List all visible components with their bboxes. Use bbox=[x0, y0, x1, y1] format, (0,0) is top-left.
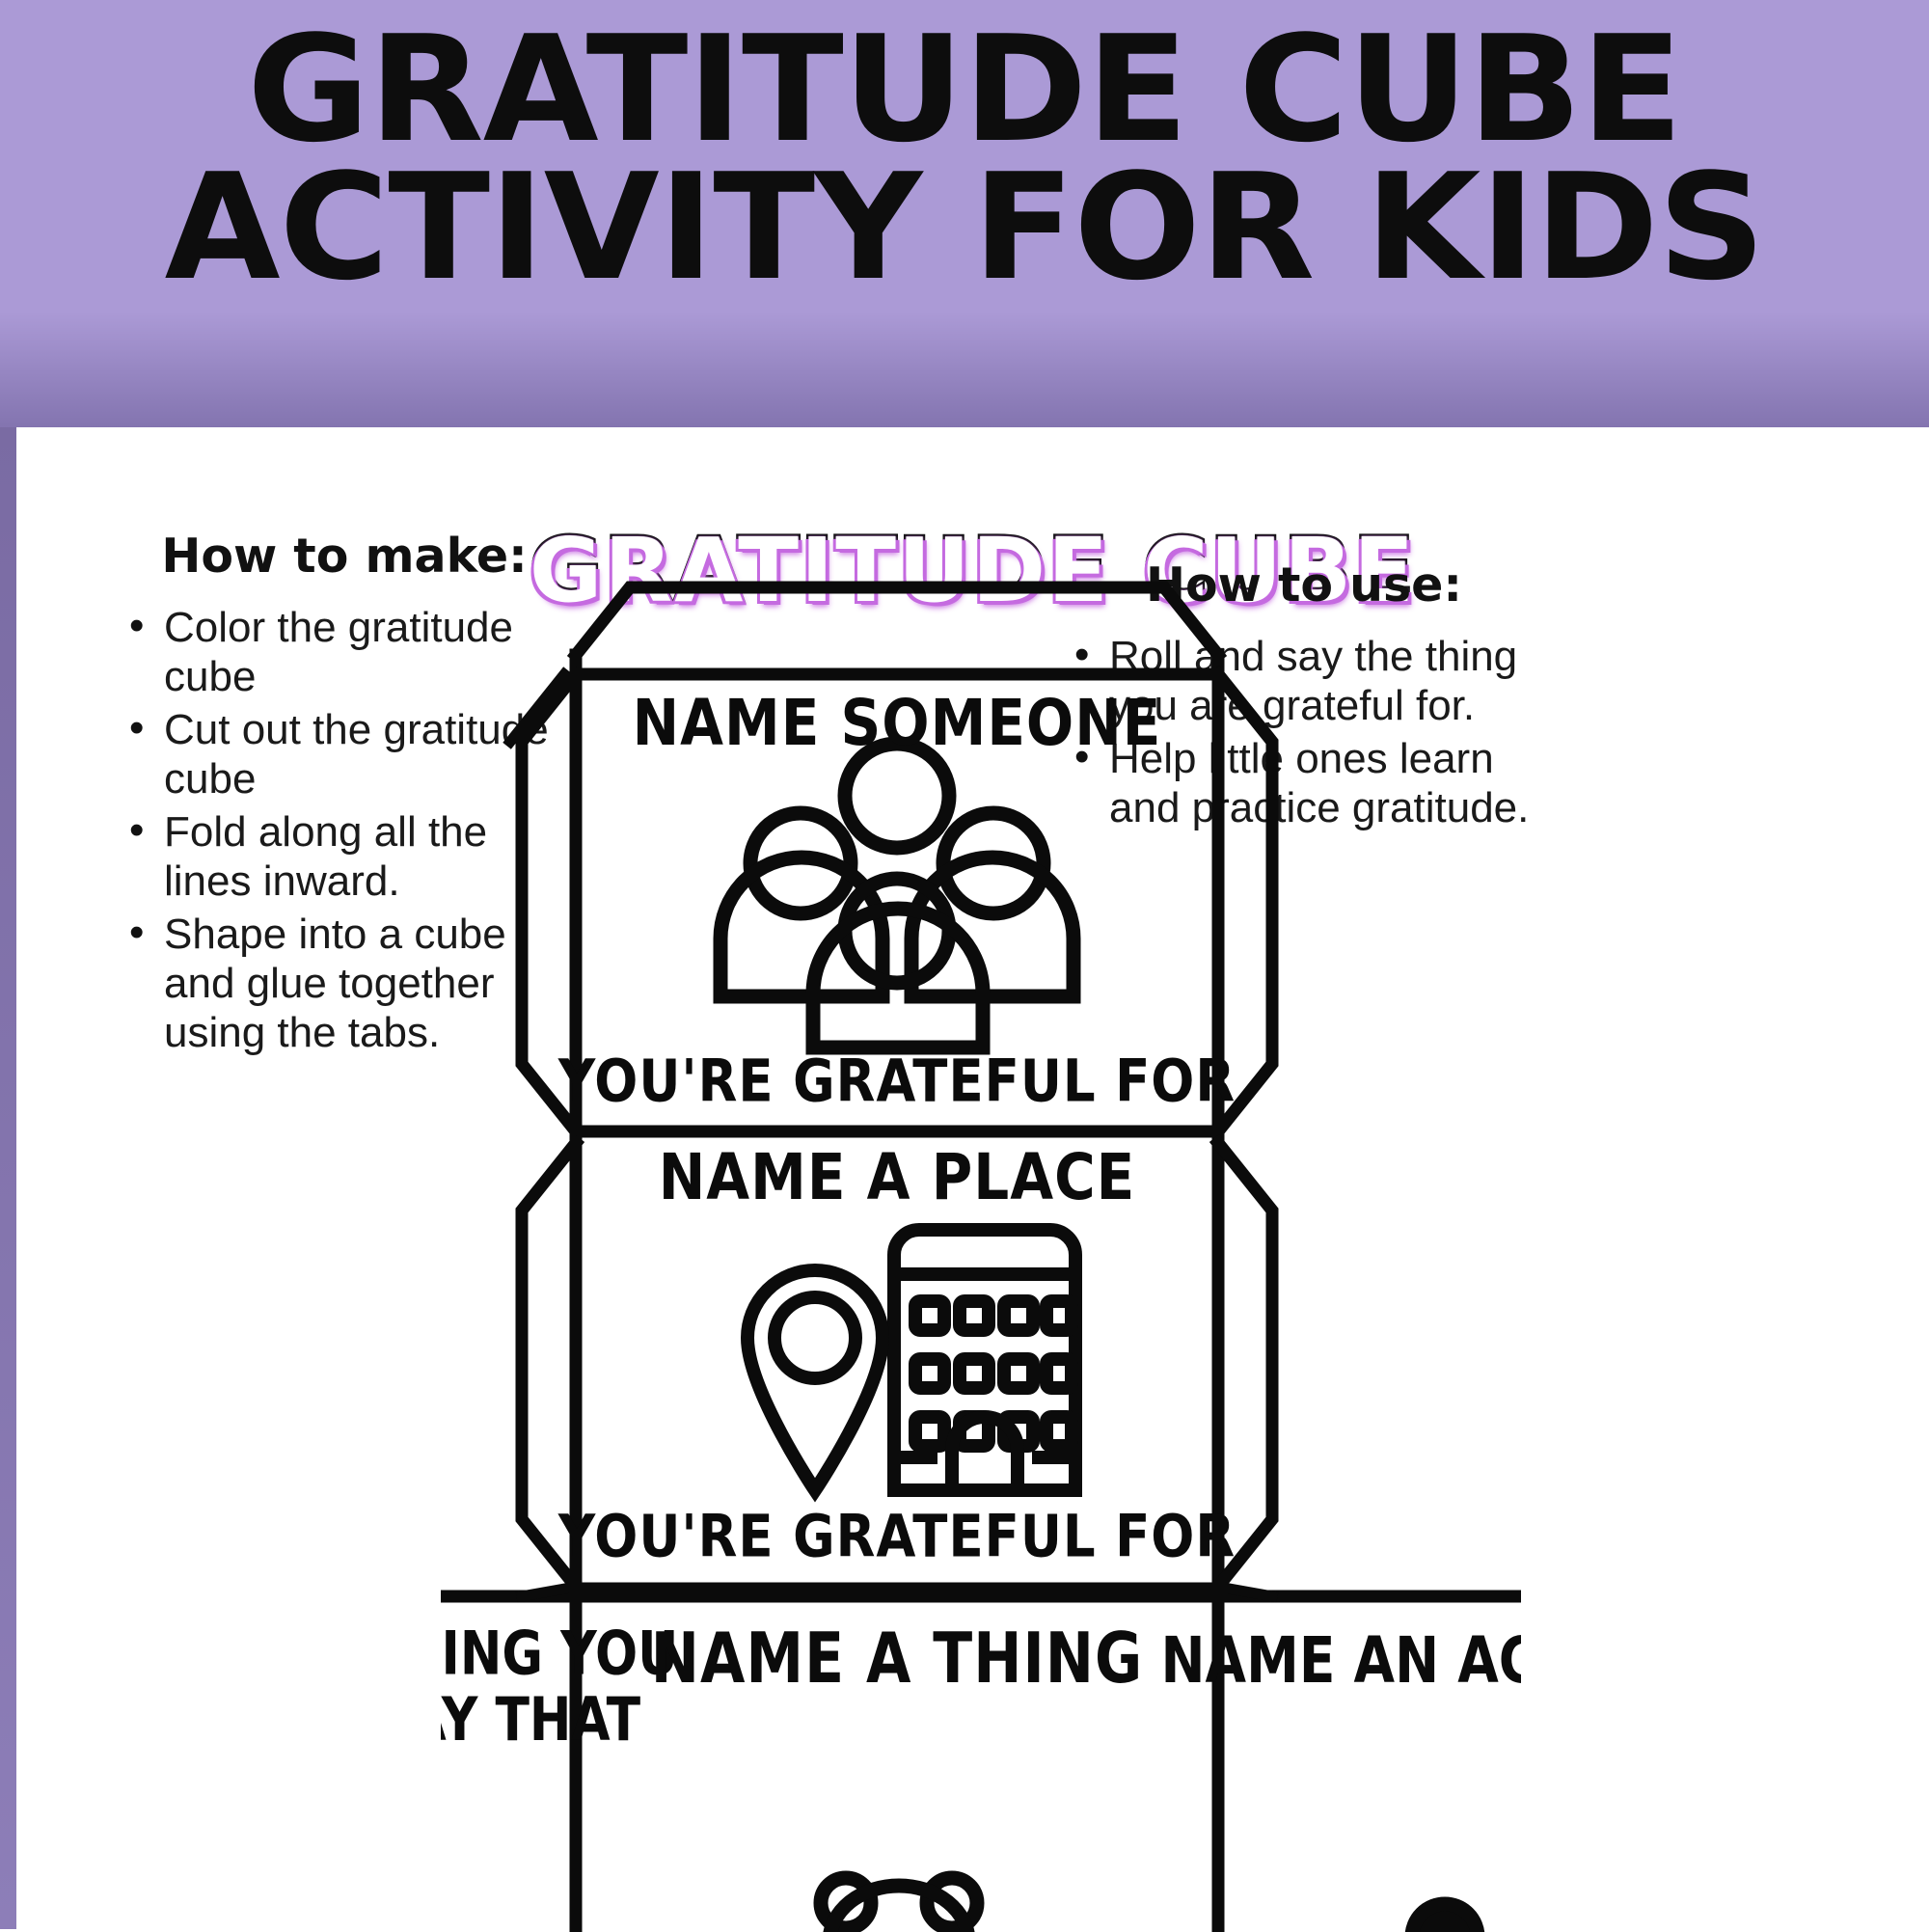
banner-shadow bbox=[0, 312, 1929, 427]
face-place-top-label: NAME A PLACE bbox=[659, 1139, 1136, 1214]
face-thing-text: NAME A THING bbox=[16, 427, 17, 428]
face-someone-top-label: NAME SOMEONE bbox=[633, 685, 1162, 760]
face-everyday-line1-label: NAME SOMETHING YOU bbox=[441, 1619, 678, 1689]
net-top-flap bbox=[576, 587, 1218, 674]
cube-net-diagram: NAME SOMEONE YOU'RE GRATEFUL FOR NAME A … bbox=[441, 485, 1521, 1932]
face-someone-bottom-label: YOU'RE GRATEFUL FOR bbox=[557, 1048, 1236, 1115]
face-place-bottom-label: YOU'RE GRATEFUL FOR bbox=[557, 1503, 1236, 1570]
face-everyday-line2-label: USE EVERYDAY THAT bbox=[441, 1684, 640, 1755]
activity-icon bbox=[1412, 1904, 1478, 1932]
face-someone-text: NAME SOMEONE bbox=[16, 427, 17, 428]
face-everyday-text: NAME SOMETHING YOU bbox=[16, 427, 17, 428]
face-place-text: NAME A PLACE bbox=[16, 427, 17, 428]
worksheet-page: GRATITUDE CUBE How to make: Color the gr… bbox=[16, 427, 1929, 1929]
face-activity-text: NAME AN ACTIVITY bbox=[16, 427, 17, 428]
shared-footer-text: YOU'RE GRATEFUL FOR bbox=[16, 427, 17, 428]
face-activity-top-label: NAME AN ACTIVITY bbox=[1161, 1624, 1521, 1698]
page-title: GRATITUDE CUBE ACTIVITY FOR KIDS bbox=[0, 21, 1929, 297]
face-thing-top-label: NAME A THING bbox=[651, 1617, 1143, 1699]
left-edge-strip bbox=[0, 427, 16, 1929]
people-group-icon bbox=[720, 744, 1073, 1048]
map-pin-building-icon bbox=[747, 1230, 1075, 1490]
teddy-bear-icon bbox=[821, 1878, 977, 1932]
header-banner: GRATITUDE CUBE ACTIVITY FOR KIDS bbox=[0, 0, 1929, 427]
